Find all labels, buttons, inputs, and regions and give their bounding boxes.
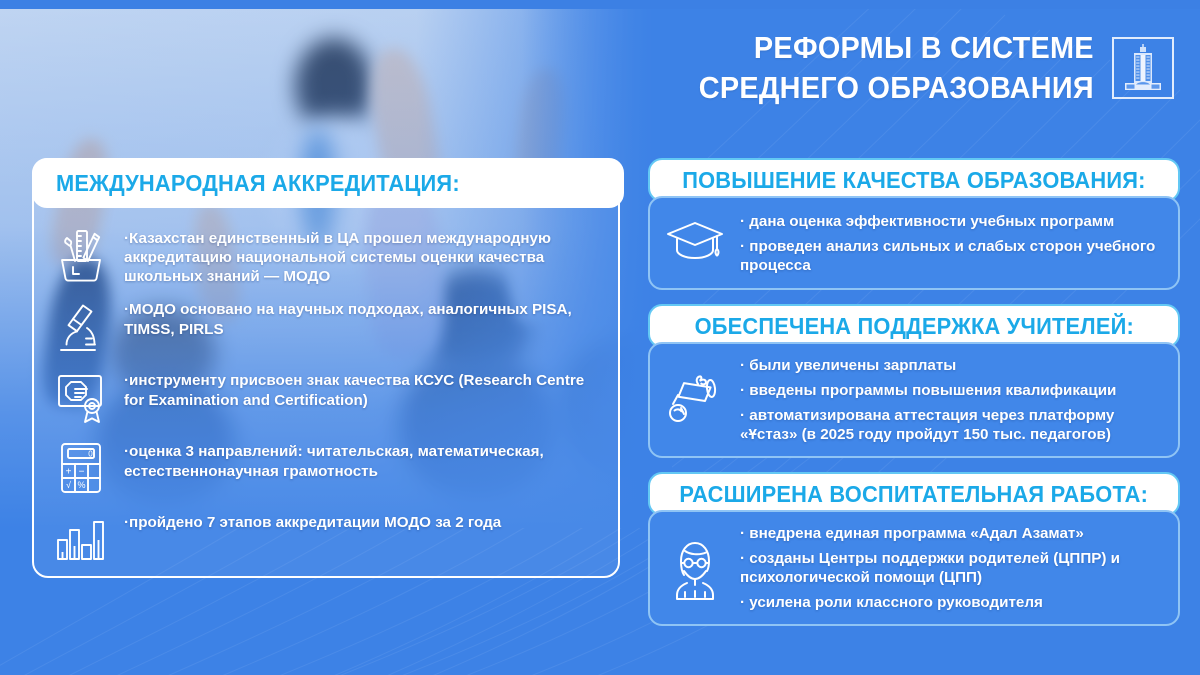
card-bullet-list: · внедрена единая программа «Адал Азамат… <box>740 524 1162 612</box>
top-accent-strip <box>0 0 1200 9</box>
government-building-emblem <box>1112 37 1174 99</box>
card-bullet-list: · были увеличены зарплаты · введены прог… <box>740 356 1162 444</box>
list-item-label: ·оценка 3 направлений: читательская, мат… <box>124 437 602 480</box>
bullet-item: · проведен анализ сильных и слабых сторо… <box>740 237 1162 275</box>
list-item-label: ·МОДО основано на научных подходах, анал… <box>124 295 602 338</box>
list-item: ·МОДО основано на научных подходах, анал… <box>50 295 602 357</box>
list-item-label: ·Казахстан единственный в ЦА прошел межд… <box>124 224 602 286</box>
list-item-label: ·пройдено 7 этапов аккредитации МОДО за … <box>124 508 501 532</box>
calculator-icon: 0 + − √ % <box>50 437 112 499</box>
card-bullet-list: · дана оценка эффективности учебных прог… <box>740 212 1162 275</box>
bullet-item: · созданы Центры поддержки родителей (ЦП… <box>740 549 1162 587</box>
bullet-item: · усилена роли классного руководителя <box>740 593 1162 612</box>
card-quality-improvement: ПОВЫШЕНИЕ КАЧЕСТВА ОБРАЗОВАНИЯ: · дана о… <box>648 158 1180 290</box>
page-title: РЕФОРМЫ В СИСТЕМЕ СРЕДНЕГО ОБРАЗОВАНИЯ <box>699 28 1094 109</box>
bar-chart-icon <box>50 508 112 570</box>
graduation-cap-icon <box>662 210 728 276</box>
bullet-item: · введены программы повышения квалификац… <box>740 381 1162 400</box>
infographic-root: РЕФОРМЫ В СИСТЕМЕ СРЕДНЕГО ОБРАЗОВАНИЯ <box>0 0 1200 675</box>
teacher-person-icon <box>662 535 728 601</box>
microscope-icon <box>50 295 112 357</box>
card-body: · дана оценка эффективности учебных прог… <box>648 196 1180 290</box>
bullet-item: · автоматизирована аттестация через плат… <box>740 406 1162 444</box>
bullet-item: · дана оценка эффективности учебных прог… <box>740 212 1162 231</box>
page-title-line-2: СРЕДНЕГО ОБРАЗОВАНИЯ <box>699 68 1094 108</box>
page-header: РЕФОРМЫ В СИСТЕМЕ СРЕДНЕГО ОБРАЗОВАНИЯ <box>669 28 1174 109</box>
svg-text:0: 0 <box>88 450 93 459</box>
bullet-item: · внедрена единая программа «Адал Азамат… <box>740 524 1162 543</box>
card-heading-text: ОБЕСПЕЧЕНА ПОДДЕРЖКА УЧИТЕЛЕЙ: <box>694 313 1133 340</box>
pencil-cup-icon <box>50 224 112 286</box>
card-body: · внедрена единая программа «Адал Азамат… <box>648 510 1180 626</box>
left-panel-heading-text: МЕЖДУНАРОДНАЯ АККРЕДИТАЦИЯ: <box>56 170 460 197</box>
page-title-line-1: РЕФОРМЫ В СИСТЕМЕ <box>699 28 1094 68</box>
svg-text:√: √ <box>66 480 71 490</box>
left-panel-items: ·Казахстан единственный в ЦА прошел межд… <box>34 210 618 576</box>
left-panel-international-accreditation: МЕЖДУНАРОДНАЯ АККРЕДИТАЦИЯ: <box>32 158 620 578</box>
list-item: ·Казахстан единственный в ЦА прошел межд… <box>50 224 602 286</box>
list-item-label: ·инструменту присвоен знак качества КСУС… <box>124 366 602 409</box>
card-heading-text: ПОВЫШЕНИЕ КАЧЕСТВА ОБРАЗОВАНИЯ: <box>682 167 1145 194</box>
svg-text:+: + <box>66 467 72 478</box>
list-item: 0 + − √ % ·оценка 3 направлений: читател… <box>50 437 602 499</box>
right-cards-column: ПОВЫШЕНИЕ КАЧЕСТВА ОБРАЗОВАНИЯ: · дана о… <box>648 158 1180 626</box>
svg-text:%: % <box>77 480 85 490</box>
left-panel-header: МЕЖДУНАРОДНАЯ АККРЕДИТАЦИЯ: <box>32 158 624 208</box>
certificate-award-icon <box>50 366 112 428</box>
card-teacher-support: ОБЕСПЕЧЕНА ПОДДЕРЖКА УЧИТЕЛЕЙ: <box>648 304 1180 458</box>
list-item: ·инструменту присвоен знак качества КСУС… <box>50 366 602 428</box>
card-upbringing-work: РАСШИРЕНА ВОСПИТАТЕЛЬНАЯ РАБОТА: <box>648 472 1180 626</box>
svg-text:−: − <box>79 467 85 478</box>
bullet-item: · были увеличены зарплаты <box>740 356 1162 375</box>
card-heading-text: РАСШИРЕНА ВОСПИТАТЕЛЬНАЯ РАБОТА: <box>680 481 1149 508</box>
list-item: ·пройдено 7 этапов аккредитации МОДО за … <box>50 508 602 570</box>
diploma-scroll-icon <box>662 367 728 433</box>
card-body: · были увеличены зарплаты · введены прог… <box>648 342 1180 458</box>
